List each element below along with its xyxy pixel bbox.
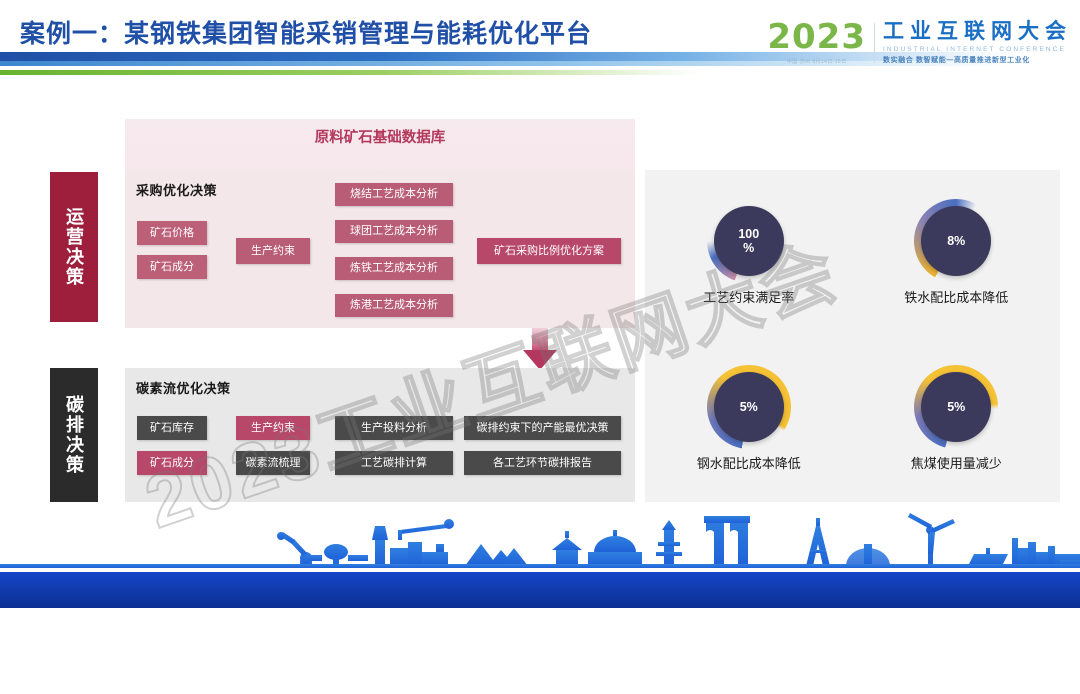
sidebar-item-carbon[interactable]: 碳排决策 xyxy=(50,368,98,502)
logo-year-block: 2023 中国·苏州 8月14日-16日 xyxy=(767,20,866,65)
divider-green-bar xyxy=(0,70,700,75)
kpi-grid: 100% 工艺约束满足率 8% 铁水配比成本降低 5% 钢水配比成本降低 5% … xyxy=(645,170,1060,502)
logo-text-block: 工业互联网大会 INDUSTRIAL INTERNET CONFERENCE 数… xyxy=(883,20,1072,64)
donut-chart-hot-metal-cost: 8% xyxy=(914,199,998,283)
logo-title-cn: 工业互联网大会 xyxy=(883,20,1072,43)
carbon-heading: 碳素流优化决策 xyxy=(136,378,231,397)
chip-production-constraint[interactable]: 生产约束 xyxy=(236,238,310,264)
kpi-item: 8% 铁水配比成本降低 xyxy=(853,170,1061,336)
chip-ore-purchase-ratio-plan[interactable]: 矿石采购比例优化方案 xyxy=(477,238,621,264)
chip-carbon-flow-mapping[interactable]: 碳素流梳理 xyxy=(236,451,310,475)
kpi-label: 焦煤使用量减少 xyxy=(911,455,1002,473)
chip-sintering-cost-analysis[interactable]: 烧结工艺成本分析 xyxy=(335,183,453,206)
logo-subtitle: 数实融合 数智赋能—高质量推进新型工业化 xyxy=(883,55,1072,65)
logo-date: 中国·苏州 8月14日-16日 xyxy=(787,58,847,65)
kpi-label: 工艺约束满足率 xyxy=(703,289,794,307)
chip-ore-inventory[interactable]: 矿石库存 xyxy=(137,416,207,440)
kpi-item: 100% 工艺约束满足率 xyxy=(645,170,853,336)
donut-chart-molten-steel-cost: 5% xyxy=(707,365,791,449)
slide-footer xyxy=(0,513,1080,608)
procurement-heading: 采购优化决策 xyxy=(136,180,217,199)
chip-ore-price[interactable]: 矿石价格 xyxy=(137,221,207,245)
chip-process-carbon-calc[interactable]: 工艺碳排计算 xyxy=(335,451,453,475)
slide-header: 案例一：某钢铁集团智能采销管理与能耗优化平台 2023 中国·苏州 8月14日-… xyxy=(0,0,1080,96)
donut-chart-coking-coal-reduction: 5% xyxy=(914,365,998,449)
chip-ore-composition[interactable]: 矿石成分 xyxy=(137,255,207,279)
donut-chart-constraint-satisfaction: 100% xyxy=(707,199,791,283)
kpi-label: 铁水配比成本降低 xyxy=(904,289,1008,307)
arrow-stem xyxy=(532,328,548,352)
flow-down-arrow xyxy=(523,328,557,370)
arrow-head xyxy=(523,350,557,370)
donut-value: 100% xyxy=(714,206,784,276)
kpi-label: 钢水配比成本降低 xyxy=(697,455,801,473)
chip-capacity-optimal-decision[interactable]: 碳排约束下的产能最优决策 xyxy=(464,416,621,440)
chip-carbon-production-constraint[interactable]: 生产约束 xyxy=(236,416,310,440)
chip-steelmaking-cost-analysis[interactable]: 炼港工艺成本分析 xyxy=(335,294,453,317)
kpi-item: 5% 钢水配比成本降低 xyxy=(645,336,853,502)
sidebar-item-operations[interactable]: 运营决策 xyxy=(50,172,98,322)
logo-year: 2023 xyxy=(767,20,866,54)
sea-band xyxy=(0,572,1080,608)
chip-pellet-cost-analysis[interactable]: 球团工艺成本分析 xyxy=(335,220,453,243)
donut-value: 5% xyxy=(921,372,991,442)
chip-ironmaking-cost-analysis[interactable]: 炼铁工艺成本分析 xyxy=(335,257,453,280)
logo-divider xyxy=(874,23,875,63)
database-title: 原料矿石基础数据库 xyxy=(125,126,635,147)
donut-value: 8% xyxy=(921,206,991,276)
chip-ore-composition-carbon[interactable]: 矿石成分 xyxy=(137,451,207,475)
chip-feed-analysis[interactable]: 生产投料分析 xyxy=(335,416,453,440)
page-title: 案例一：某钢铁集团智能采销管理与能耗优化平台 xyxy=(20,14,592,50)
chip-carbon-report[interactable]: 各工艺环节碳排报告 xyxy=(464,451,621,475)
kpi-item: 5% 焦煤使用量减少 xyxy=(853,336,1061,502)
diagram-stage: 原料矿石基础数据库 运营决策 碳排决策 采购优化决策 矿石价格 矿石成分 生产约… xyxy=(0,96,1080,516)
donut-value: 5% xyxy=(714,372,784,442)
logo-title-en: INDUSTRIAL INTERNET CONFERENCE xyxy=(883,46,1072,53)
conference-logo: 2023 中国·苏州 8月14日-16日 工业互联网大会 INDUSTRIAL … xyxy=(767,20,1072,65)
city-skyline-illustration xyxy=(0,508,1080,578)
